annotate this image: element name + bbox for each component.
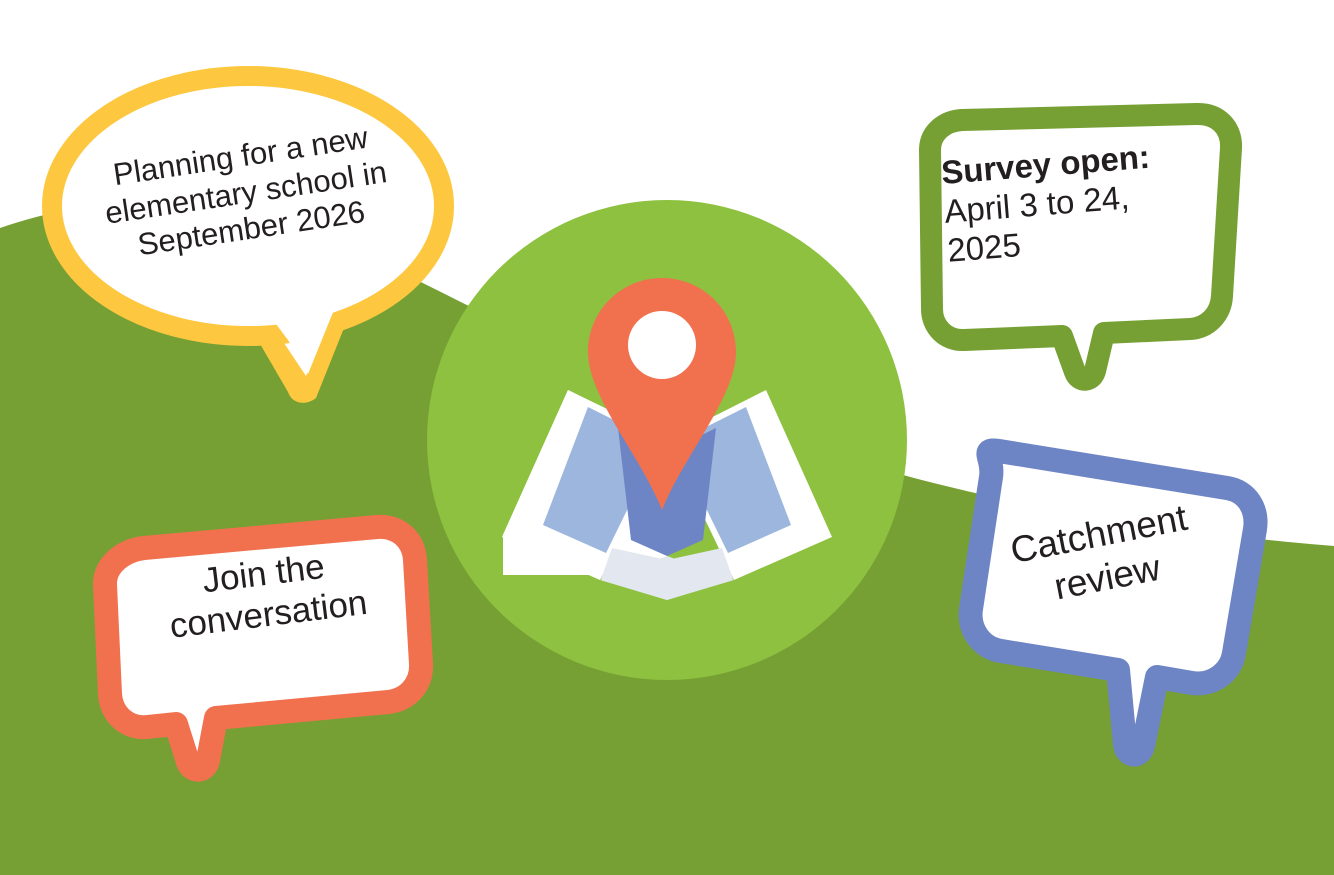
location-pin-dot [628, 311, 696, 379]
survey-bubble-body [930, 114, 1231, 380]
planning-bubble-ellipse [52, 76, 444, 336]
foreground-artwork [0, 0, 1334, 875]
survey-bubble-shape[interactable] [930, 114, 1231, 380]
catchment-review-bubble-shape[interactable] [971, 450, 1256, 754]
poster-canvas: Planning for a new elementary school in … [0, 0, 1334, 875]
join-conversation-bubble-body [105, 527, 421, 770]
catchment-review-bubble-body [971, 450, 1256, 754]
planning-bubble-shape[interactable] [52, 76, 444, 403]
join-conversation-bubble-shape[interactable] [105, 527, 421, 770]
